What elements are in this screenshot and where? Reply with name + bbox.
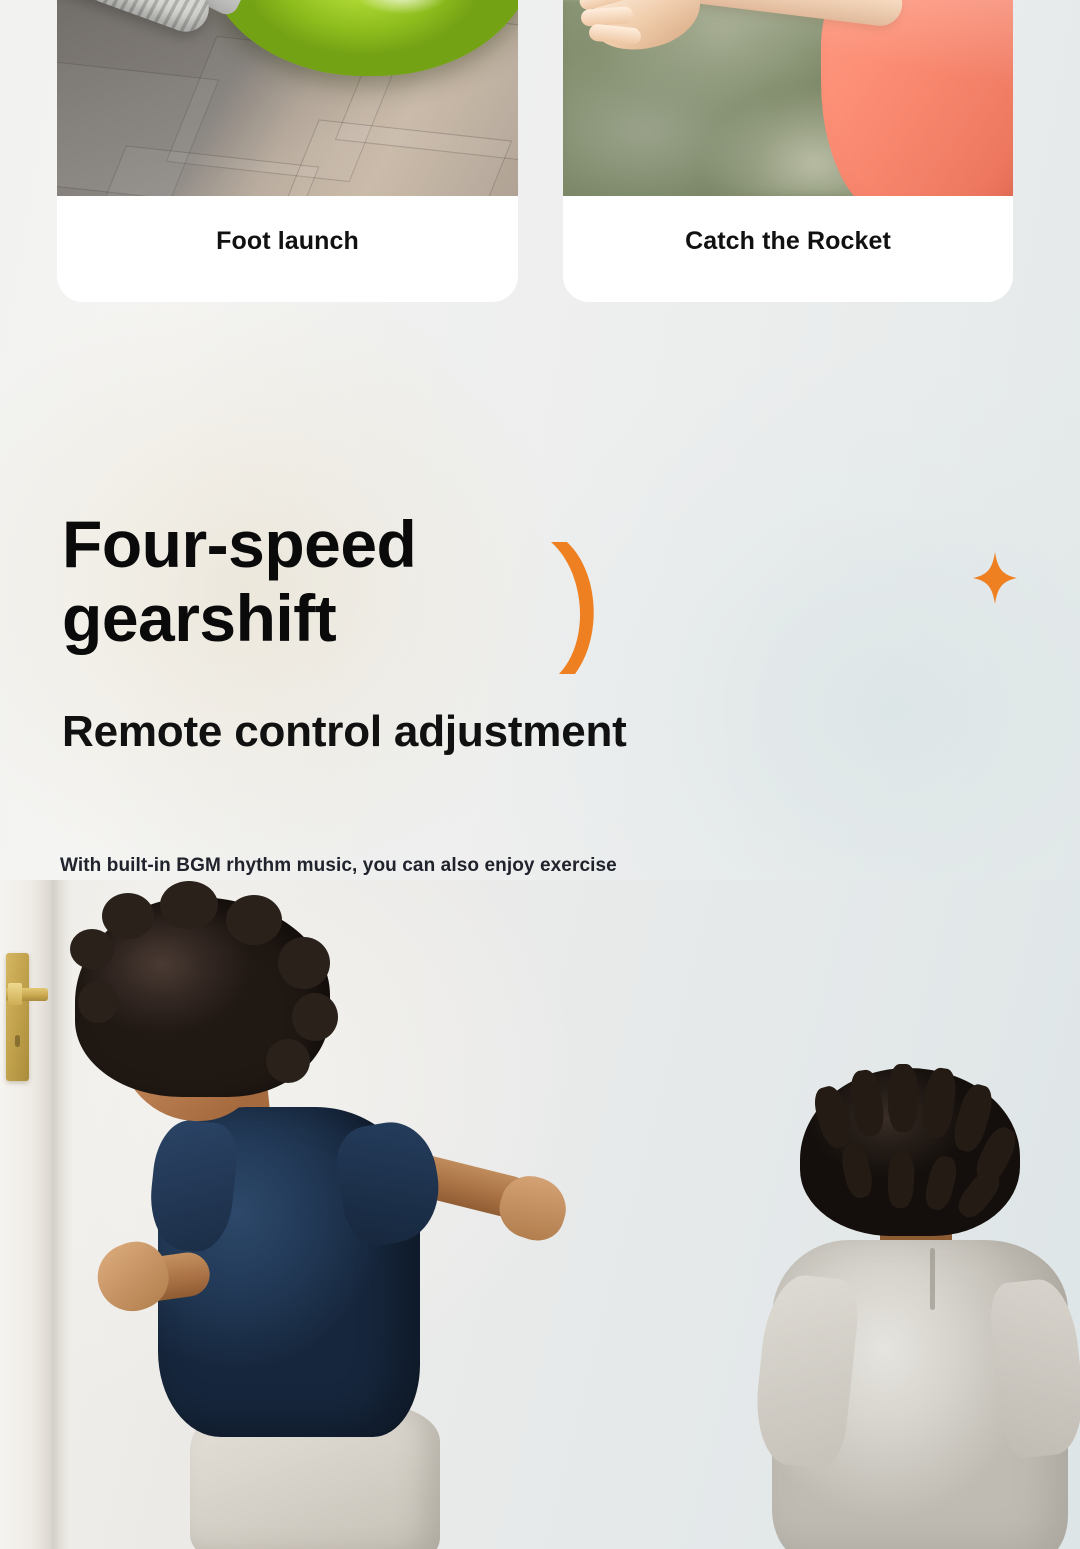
hair-curl [226,895,282,945]
card-foot-launch[interactable]: Foot launch [57,0,518,302]
photo-child-catching [563,0,1013,196]
card-foot-launch-photo [57,0,518,196]
four-point-sparkle-icon [973,552,1017,604]
door-handle-knob [8,983,22,1005]
hair-curl [102,893,154,939]
feature-card-strip: Foot launch Catch t [0,0,1080,302]
card-catch-the-rocket[interactable]: Catch the Rocket [563,0,1013,302]
feature-headline: Four-speed gearshift [62,508,416,656]
hair-curl [278,937,330,989]
feature-caption: With built-in BGM rhythm music, you can … [60,855,617,877]
sunlight-overlay [563,0,1013,196]
child-running-navy-shirt [40,885,560,1549]
crescent-paren-icon [545,538,601,678]
door-keyhole [15,1035,20,1047]
hair-curl [292,993,338,1041]
product-feature-page: Foot launch Catch t [0,0,1080,1549]
hair-curl [78,981,118,1023]
hair-curl [160,881,218,929]
card-foot-launch-label: Foot launch [57,196,518,302]
photo-pump-bellows [57,0,518,196]
hair-twist [888,1064,918,1132]
door-handle-backplate [6,953,29,1081]
card-catch-the-rocket-label: Catch the Rocket [563,196,1013,302]
child-grey-sweatshirt [760,1040,1080,1549]
hair-curl [266,1039,310,1083]
card-catch-the-rocket-photo [563,0,1013,196]
hair-twist [887,1152,915,1209]
collar-seam [930,1248,935,1310]
hair-curl [70,929,114,969]
feature-subheadline: Remote control adjustment [62,707,627,757]
